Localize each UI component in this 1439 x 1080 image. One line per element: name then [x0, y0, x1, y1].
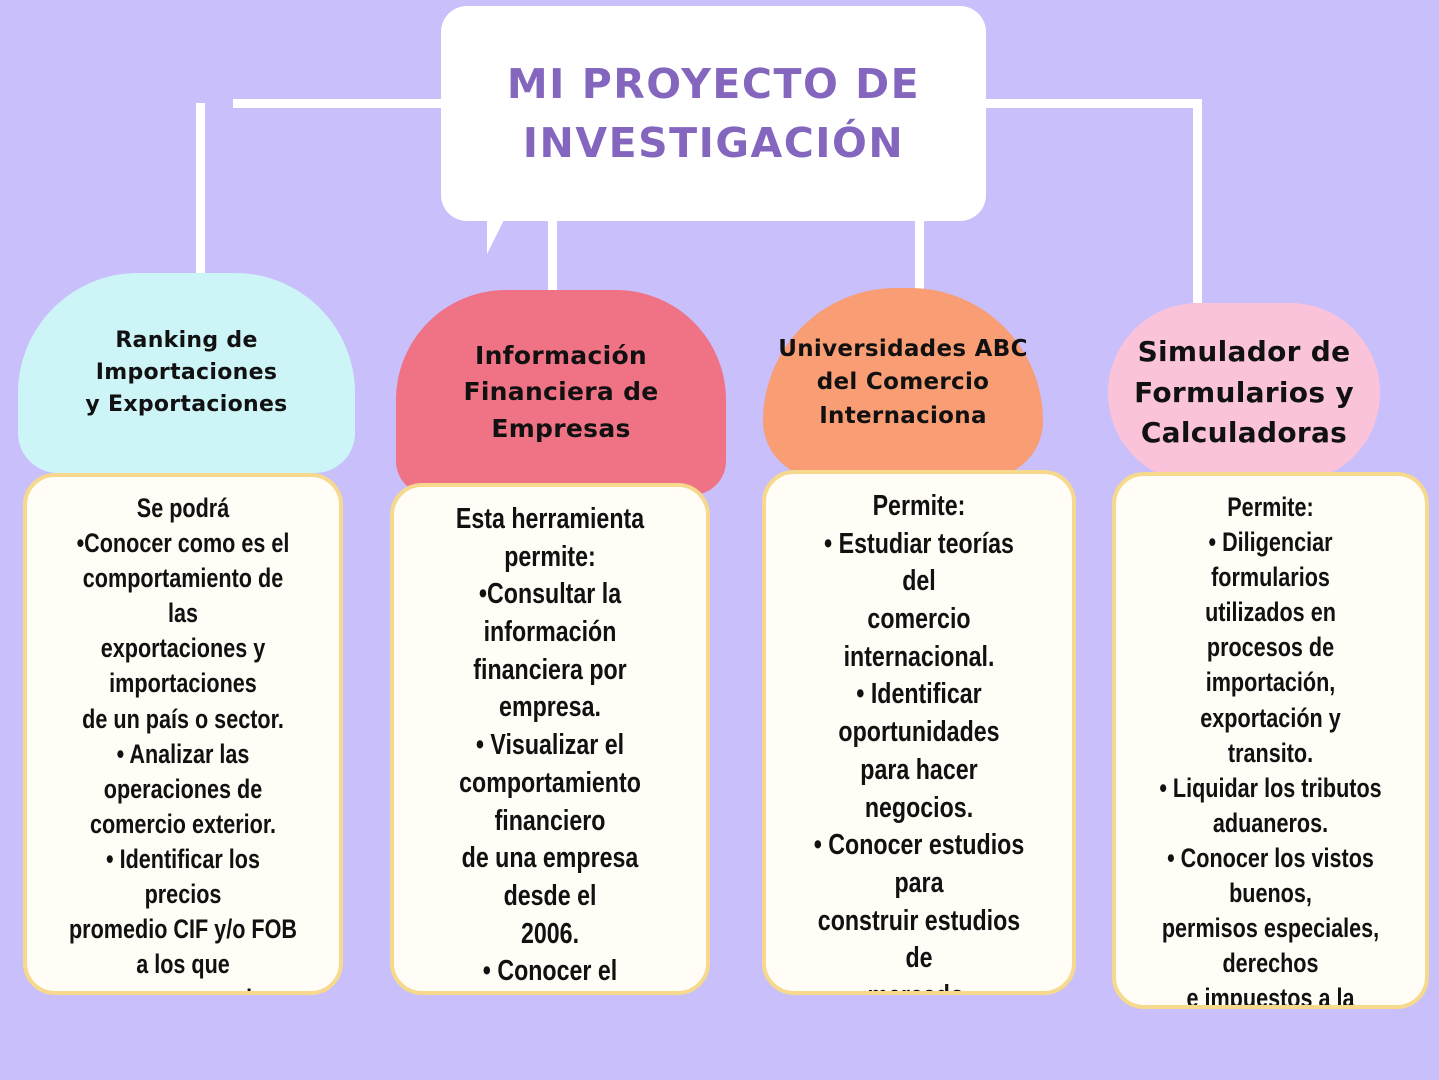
connector-horizontal-right [975, 99, 1202, 108]
card-line: • Analizar las operaciones de [66, 737, 300, 807]
card-line: • Diligenciar formularios [1155, 525, 1386, 595]
card-line: 2006. [433, 916, 667, 954]
card-line: comportamiento financiero [433, 765, 667, 840]
card-line: comercio internacional. [805, 601, 1034, 676]
speech-bubble-tail [487, 218, 523, 254]
card-line: de un país o sector. [66, 702, 300, 737]
header-blob-universidades: Universidades ABC del Comercio Internaci… [763, 288, 1043, 478]
card-line: exportaciones y importaciones [66, 631, 300, 701]
card-line: comercio exterior. [66, 807, 300, 842]
card-line: aduaneros. [1155, 806, 1386, 841]
card-line: mercado. [805, 978, 1034, 995]
card-line: • Identificar los precios [66, 842, 300, 912]
card-line: Permite: [805, 488, 1034, 526]
card-line: se compra y vende un [66, 982, 300, 995]
card-line: • Liquidar los tributos [1155, 771, 1386, 806]
card-line: • Conocer estudios para [805, 827, 1034, 902]
card-line: Esta herramienta permite: [433, 501, 667, 576]
card-universidades: Permite: • Estudiar teorías del comercio… [762, 470, 1076, 995]
card-ranking: Se podrá •Conocer como es el comportamie… [23, 473, 343, 995]
connector-horizontal-left [233, 99, 463, 108]
card-line: • Estudiar teorías del [805, 526, 1034, 601]
card-line: importación, exportación y [1155, 665, 1386, 735]
header-blob-simulador: Simulador de Formularios y Calculadoras [1108, 303, 1380, 483]
page-title-line-2: INVESTIGACIÓN [523, 114, 904, 172]
header-label-simulador: Simulador de Formularios y Calculadoras [1134, 332, 1354, 454]
card-line: transito. [1155, 736, 1386, 771]
header-label-financiera: Información Financiera de Empresas [463, 338, 658, 447]
header-blob-financiera: Información Financiera de Empresas [396, 290, 726, 495]
card-financiera: Esta herramienta permite: •Consultar la … [390, 483, 710, 995]
connector-vertical-col4 [1193, 103, 1202, 303]
card-line: de una empresa desde el [433, 840, 667, 915]
connector-vertical-col1 [196, 103, 205, 300]
title-bubble: MI PROYECTO DE INVESTIGACIÓN [441, 6, 986, 221]
header-label-ranking: Ranking de Importaciones y Exportaciones [30, 325, 343, 421]
card-line: • Conocer los vistos buenos, [1155, 841, 1386, 911]
card-line: construir estudios de [805, 903, 1034, 978]
card-line: financiera por empresa. [433, 652, 667, 727]
card-line: para hacer negocios. [805, 752, 1034, 827]
card-line: •Conocer como es el [66, 526, 300, 561]
card-line: utilizados en procesos de [1155, 595, 1386, 665]
card-line: comportamiento de las [66, 561, 300, 631]
card-line: e impuestos a la importación [1155, 981, 1386, 1009]
card-line: Se podrá [66, 491, 300, 526]
card-line: permisos especiales, derechos [1155, 911, 1386, 981]
card-line: • Identificar oportunidades [805, 676, 1034, 751]
card-simulador: Permite: • Diligenciar formularios utili… [1112, 472, 1429, 1009]
card-line: Permite: [1155, 490, 1386, 525]
card-line: •Consultar la información [433, 576, 667, 651]
card-line: • Conocer el comportamiento [433, 953, 667, 995]
header-label-universidades: Universidades ABC del Comercio Internaci… [778, 333, 1028, 433]
page-title-line-1: MI PROYECTO DE [507, 55, 920, 113]
header-blob-ranking: Ranking de Importaciones y Exportaciones [18, 273, 355, 473]
infographic-canvas: MI PROYECTO DE INVESTIGACIÓN Ranking de … [0, 0, 1439, 1080]
card-line: • Visualizar el [433, 727, 667, 765]
card-line: promedio CIF y/o FOB a los que [66, 912, 300, 982]
